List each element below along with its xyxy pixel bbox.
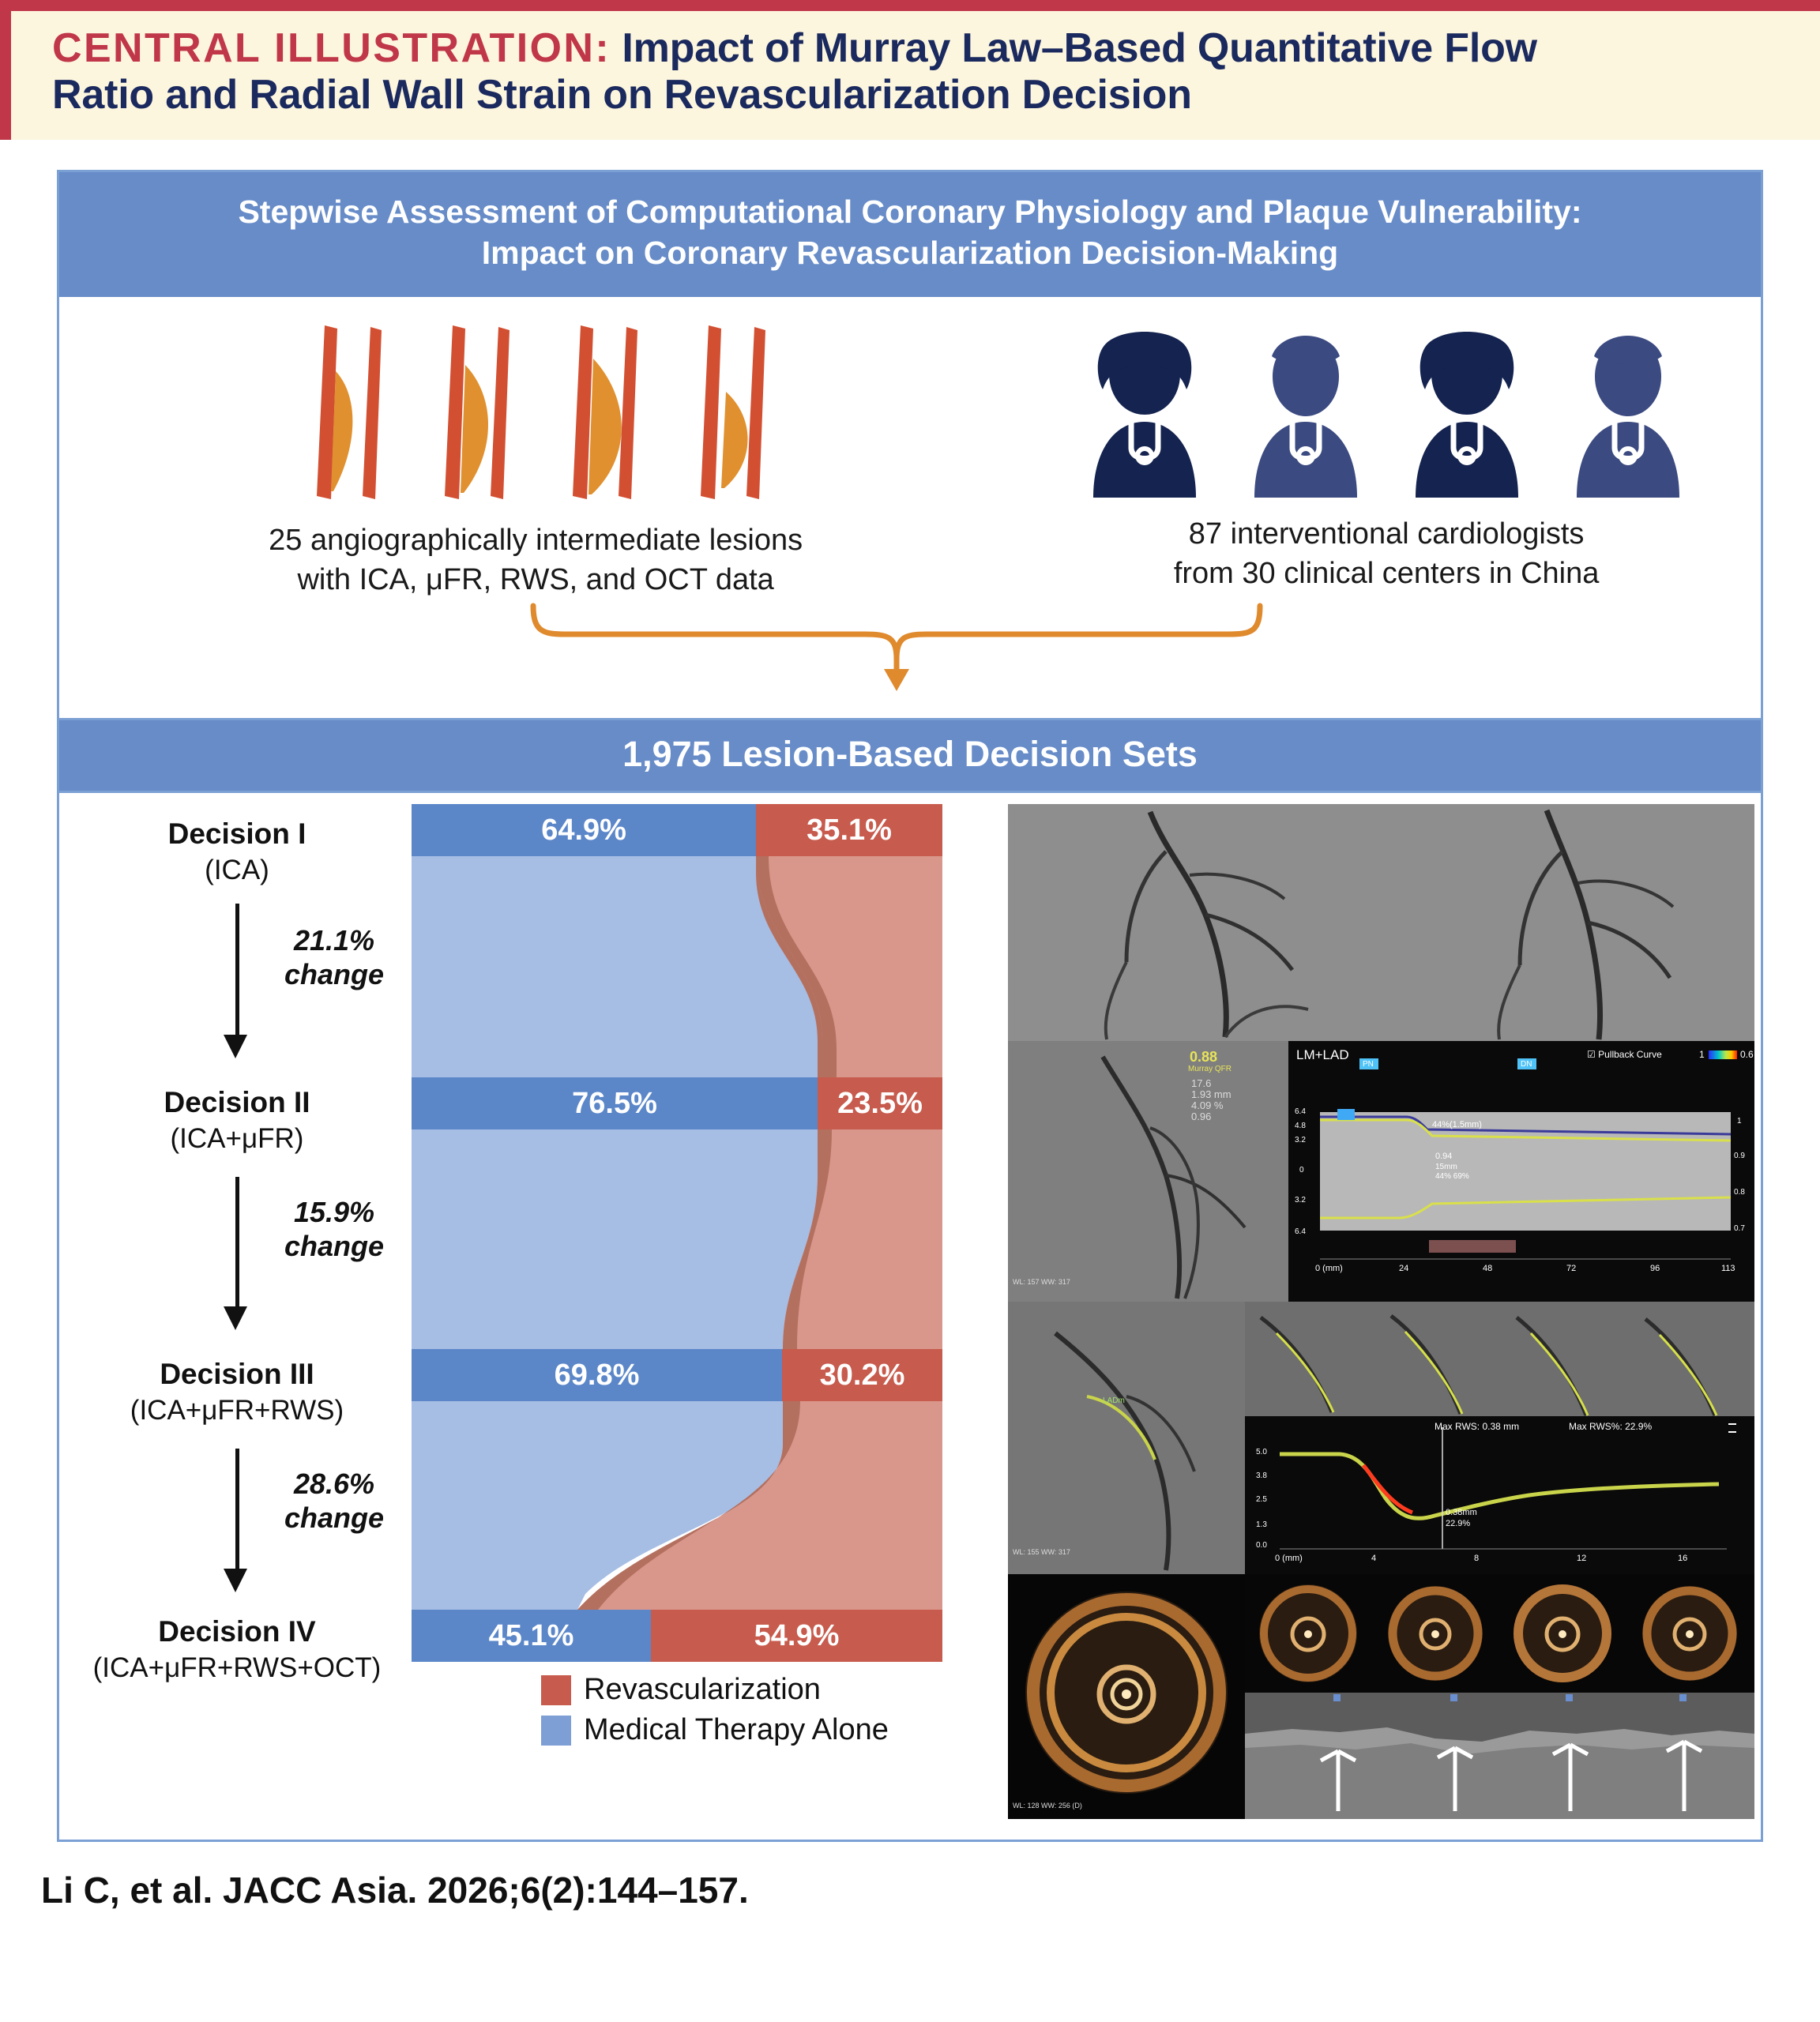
transition-3-change-pct: 28.6% — [247, 1468, 421, 1501]
rws-angio-footer: WL: 155 WW: 317 — [1013, 1548, 1070, 1556]
imaging-mosaic: 0.88 Murray QFR 17.6 1.93 mm 4.09 % 0.96… — [1008, 804, 1754, 1819]
pullback-y-left-2: 4.8 — [1295, 1122, 1306, 1130]
transition-2-change-word: change — [247, 1230, 421, 1263]
decision-1-revasc-value: 35.1% — [756, 804, 942, 856]
oct-frame-3 — [1499, 1574, 1626, 1693]
transition-2-change: 15.9% change — [247, 1196, 421, 1263]
pullback-y-left-3: 3.2 — [1295, 1136, 1306, 1144]
page-title-line2: Ratio and Radial Wall Strain on Revascul… — [52, 72, 1798, 118]
legend-swatch-revascularization — [541, 1675, 571, 1705]
sankey-chart: Decision I (ICA) 64.9% 35.1% 21.1% chang… — [67, 804, 1003, 1677]
transition-3-arrow-head — [224, 1569, 247, 1592]
top-accent-rule — [0, 0, 1820, 11]
rws-note-mm: 0.38mm — [1446, 1508, 1477, 1517]
cardiologists-caption: 87 interventional cardiologists from 30 … — [1012, 515, 1761, 593]
lesion-icon-3 — [552, 324, 647, 502]
rws-x-tick-5: 16 — [1678, 1554, 1687, 1563]
oct-footer: WL: 128 WW: 256 (D) — [1013, 1802, 1082, 1810]
angiogram-image-1 — [1008, 804, 1381, 1041]
page-title: CENTRAL ILLUSTRATION: Impact of Murray L… — [52, 25, 1798, 72]
decision-2-label: Decision II (ICA+μFR) — [67, 1085, 407, 1155]
pullback-x-tick-3: 48 — [1483, 1264, 1492, 1273]
decision-4-revasc-value: 54.9% — [651, 1610, 942, 1662]
rws-x-tick-3: 8 — [1474, 1554, 1479, 1563]
cardiologists-group: 87 interventional cardiologists from 30 … — [1012, 316, 1761, 593]
transition-1-change: 21.1% change — [247, 924, 421, 991]
decision-2-medical-value: 76.5% — [412, 1077, 818, 1129]
lesion-icon-row — [59, 324, 1012, 505]
figure-banner-line2: Impact on Coronary Revascularization Dec… — [91, 232, 1729, 273]
rws-frame-3 — [1499, 1302, 1626, 1416]
cohort-panel: 25 angiographically intermediate lesions… — [59, 297, 1761, 720]
pullback-y-right-2: 0.9 — [1734, 1152, 1745, 1160]
cardiologist-icon-4 — [1553, 329, 1703, 499]
decision-sets-banner: 1,975 Lesion-Based Decision Sets — [59, 720, 1761, 793]
legend-item-medical-therapy: Medical Therapy Alone — [541, 1713, 889, 1747]
oct-right-stack — [1245, 1574, 1754, 1819]
angio-row — [1008, 804, 1754, 1041]
rws-frame-4 — [1626, 1302, 1754, 1416]
decision-2-bar: 76.5% 23.5% — [412, 1077, 942, 1129]
pullback-y-left-6: 6.4 — [1295, 1227, 1306, 1236]
rws-strain-chart: Max RWS: 0.38 mm Max RWS%: 22.9% 0.38mm … — [1245, 1416, 1754, 1574]
transition-3-change: 28.6% change — [247, 1468, 421, 1535]
figure-banner: Stepwise Assessment of Computational Cor… — [59, 172, 1761, 298]
vessel-metric-2: 1.93 mm — [1191, 1088, 1232, 1100]
stenosis-note-2: 15mm — [1435, 1163, 1457, 1171]
pullback-x-tick-2: 24 — [1399, 1264, 1408, 1273]
transition-1-change-pct: 21.1% — [247, 924, 421, 957]
stenosis-note-3: 44% 69% — [1435, 1172, 1469, 1181]
decision-3-sublabel: (ICA+μFR+RWS) — [130, 1395, 344, 1426]
qfr-row: 0.88 Murray QFR 17.6 1.93 mm 4.09 % 0.96… — [1008, 1041, 1754, 1302]
rws-frame-2 — [1372, 1302, 1499, 1416]
decision-3-medical-value: 69.8% — [412, 1349, 782, 1401]
lesions-caption-line1: 25 angiographically intermediate lesions — [59, 521, 1012, 560]
rws-y-tick-4: 1.3 — [1256, 1520, 1267, 1529]
decision-1-sublabel: (ICA) — [205, 855, 269, 885]
oct-frame-1 — [1245, 1574, 1372, 1693]
transition-2-arrow-shaft — [235, 1177, 239, 1310]
imaging-column: 0.88 Murray QFR 17.6 1.93 mm 4.09 % 0.96… — [1003, 804, 1754, 1819]
oct-row: WL: 128 WW: 256 (D) — [1008, 1574, 1754, 1819]
dn-marker: DN — [1521, 1060, 1532, 1069]
rws-row: LADm WL: 155 WW: 317 — [1008, 1302, 1754, 1574]
lesion-length-note: 44%(1.5mm) — [1432, 1120, 1482, 1129]
decision-3-title: Decision III — [67, 1357, 407, 1392]
pullback-y-left-1: 6.4 — [1295, 1107, 1306, 1116]
decision-3-label: Decision III (ICA+μFR+RWS) — [67, 1357, 407, 1426]
lesions-caption-line2: with ICA, μFR, RWS, and OCT data — [59, 561, 1012, 599]
vessel-metric-4: 0.96 — [1191, 1111, 1211, 1122]
transition-1-arrow-shaft — [235, 904, 239, 1038]
qfr-value: 0.88 — [1190, 1049, 1217, 1065]
oct-longitudinal-view — [1245, 1693, 1754, 1819]
rws-note-pct: 22.9% — [1446, 1519, 1470, 1528]
oct-frames-row — [1245, 1574, 1754, 1693]
transition-3-change-word: change — [247, 1501, 421, 1535]
decision-1-bar: 64.9% 35.1% — [412, 804, 942, 856]
rws-y-tick-3: 2.5 — [1256, 1495, 1267, 1504]
decision-2-title: Decision II — [67, 1085, 407, 1120]
transition-2-change-pct: 15.9% — [247, 1196, 421, 1229]
pullback-x-tick-6: 113 — [1721, 1264, 1735, 1273]
decision-4-sublabel: (ICA+μFR+RWS+OCT) — [93, 1652, 382, 1683]
cardiologists-caption-line2: from 30 clinical centers in China — [1012, 554, 1761, 593]
figure-frame: Stepwise Assessment of Computational Cor… — [57, 170, 1763, 1843]
pullback-curve-panel: LM+LAD ☑ Pullback Curve 1 0.6 — [1288, 1041, 1754, 1302]
angiogram-image-2 — [1381, 804, 1754, 1041]
legend-label-revascularization: Revascularization — [584, 1673, 821, 1707]
oct-frame-4 — [1626, 1574, 1754, 1693]
lesions-caption: 25 angiographically intermediate lesions… — [59, 521, 1012, 599]
decision-3-revasc-value: 30.2% — [782, 1349, 942, 1401]
qfr-angiogram: 0.88 Murray QFR 17.6 1.93 mm 4.09 % 0.96… — [1008, 1041, 1288, 1302]
decision-2-sublabel: (ICA+μFR) — [171, 1123, 304, 1154]
legend-swatch-medical-therapy — [541, 1716, 571, 1746]
oct-main-image: WL: 128 WW: 256 (D) — [1008, 1574, 1245, 1819]
legend-item-revascularization: Revascularization — [541, 1673, 889, 1707]
central-illustration-tag: CENTRAL ILLUSTRATION: — [52, 25, 611, 71]
decision-4-label: Decision IV (ICA+μFR+RWS+OCT) — [67, 1614, 407, 1684]
pn-marker: PN — [1363, 1060, 1374, 1069]
decision-1-title: Decision I — [67, 817, 407, 851]
pullback-x-tick-1: 0 (mm) — [1315, 1264, 1343, 1273]
vessel-metric-1: 17.6 — [1191, 1077, 1211, 1089]
pullback-y-left-5: 3.2 — [1295, 1196, 1306, 1205]
page-title-rest: Impact of Murray Law–Based Quantitative … — [611, 25, 1537, 71]
merge-brace — [59, 599, 1761, 694]
lesion-icon-1 — [296, 324, 391, 502]
rws-frame-row — [1245, 1302, 1754, 1416]
chart-legend: Revascularization Medical Therapy Alone — [541, 1673, 889, 1753]
oct-frame-2 — [1372, 1574, 1499, 1693]
decision-4-title: Decision IV — [67, 1614, 407, 1649]
rws-right-stack: Max RWS: 0.38 mm Max RWS%: 22.9% 0.38mm … — [1245, 1302, 1754, 1574]
citation: Li C, et al. JACC Asia. 2026;6(2):144–15… — [41, 1869, 1820, 1911]
transition-1-change-word: change — [247, 958, 421, 991]
rws-y-tick-5: 0.0 — [1256, 1541, 1267, 1550]
results-panel: Decision I (ICA) 64.9% 35.1% 21.1% chang… — [59, 793, 1761, 1840]
cardiologist-icon-1 — [1070, 329, 1220, 499]
cardiologist-icon-2 — [1231, 329, 1381, 499]
rws-x-tick-4: 12 — [1577, 1554, 1586, 1563]
transition-3-arrow-shaft — [235, 1449, 239, 1572]
rws-x-tick-1: 0 (mm) — [1275, 1554, 1303, 1563]
legend-label-medical-therapy: Medical Therapy Alone — [584, 1713, 889, 1747]
rws-angiogram: LADm WL: 155 WW: 317 — [1008, 1302, 1245, 1574]
qfr-angio-footer: WL: 157 WW: 317 — [1013, 1278, 1070, 1286]
decision-2-revasc-value: 23.5% — [818, 1077, 942, 1129]
lesions-group: 25 angiographically intermediate lesions… — [59, 316, 1012, 599]
decision-3-bar: 69.8% 30.2% — [412, 1349, 942, 1401]
lesion-icon-4 — [680, 324, 775, 502]
pullback-x-tick-4: 72 — [1566, 1264, 1576, 1273]
cardiologist-icon-row — [1012, 321, 1761, 499]
decision-4-bar: 45.1% 54.9% — [412, 1610, 942, 1662]
transition-2-arrow-head — [224, 1306, 247, 1330]
rws-vessel-tag: LADm — [1103, 1396, 1125, 1405]
stenosis-note-1: 0.94 — [1435, 1152, 1452, 1161]
decision-1-medical-value: 64.9% — [412, 804, 756, 856]
sankey-column: Decision I (ICA) 64.9% 35.1% 21.1% chang… — [67, 804, 1003, 1819]
sankey-ribbons — [412, 804, 942, 1677]
lesion-icon-2 — [424, 324, 519, 502]
decision-1-label: Decision I (ICA) — [67, 817, 407, 886]
pullback-y-left-4: 0 — [1299, 1166, 1304, 1174]
cardiologist-icon-3 — [1392, 329, 1542, 499]
rws-y-tick-1: 5.0 — [1256, 1448, 1267, 1456]
cardiologists-caption-line1: 87 interventional cardiologists — [1012, 515, 1761, 554]
vessel-metric-3: 4.09 % — [1191, 1099, 1223, 1111]
pullback-y-right-4: 0.7 — [1734, 1224, 1745, 1233]
pullback-y-right-3: 0.8 — [1734, 1188, 1745, 1197]
decision-4-medical-value: 45.1% — [412, 1610, 651, 1662]
figure-banner-line1: Stepwise Assessment of Computational Cor… — [91, 191, 1729, 232]
transition-1-arrow-head — [224, 1035, 247, 1058]
rws-frame-1 — [1245, 1302, 1372, 1416]
pullback-y-right-1: 1 — [1737, 1117, 1742, 1126]
rws-y-tick-2: 3.8 — [1256, 1471, 1267, 1480]
pullback-x-tick-5: 96 — [1650, 1264, 1660, 1273]
rws-x-tick-2: 4 — [1371, 1554, 1376, 1563]
qfr-caption: Murray QFR — [1188, 1065, 1232, 1073]
central-illustration-title-band: CENTRAL ILLUSTRATION: Impact of Murray L… — [0, 11, 1820, 140]
